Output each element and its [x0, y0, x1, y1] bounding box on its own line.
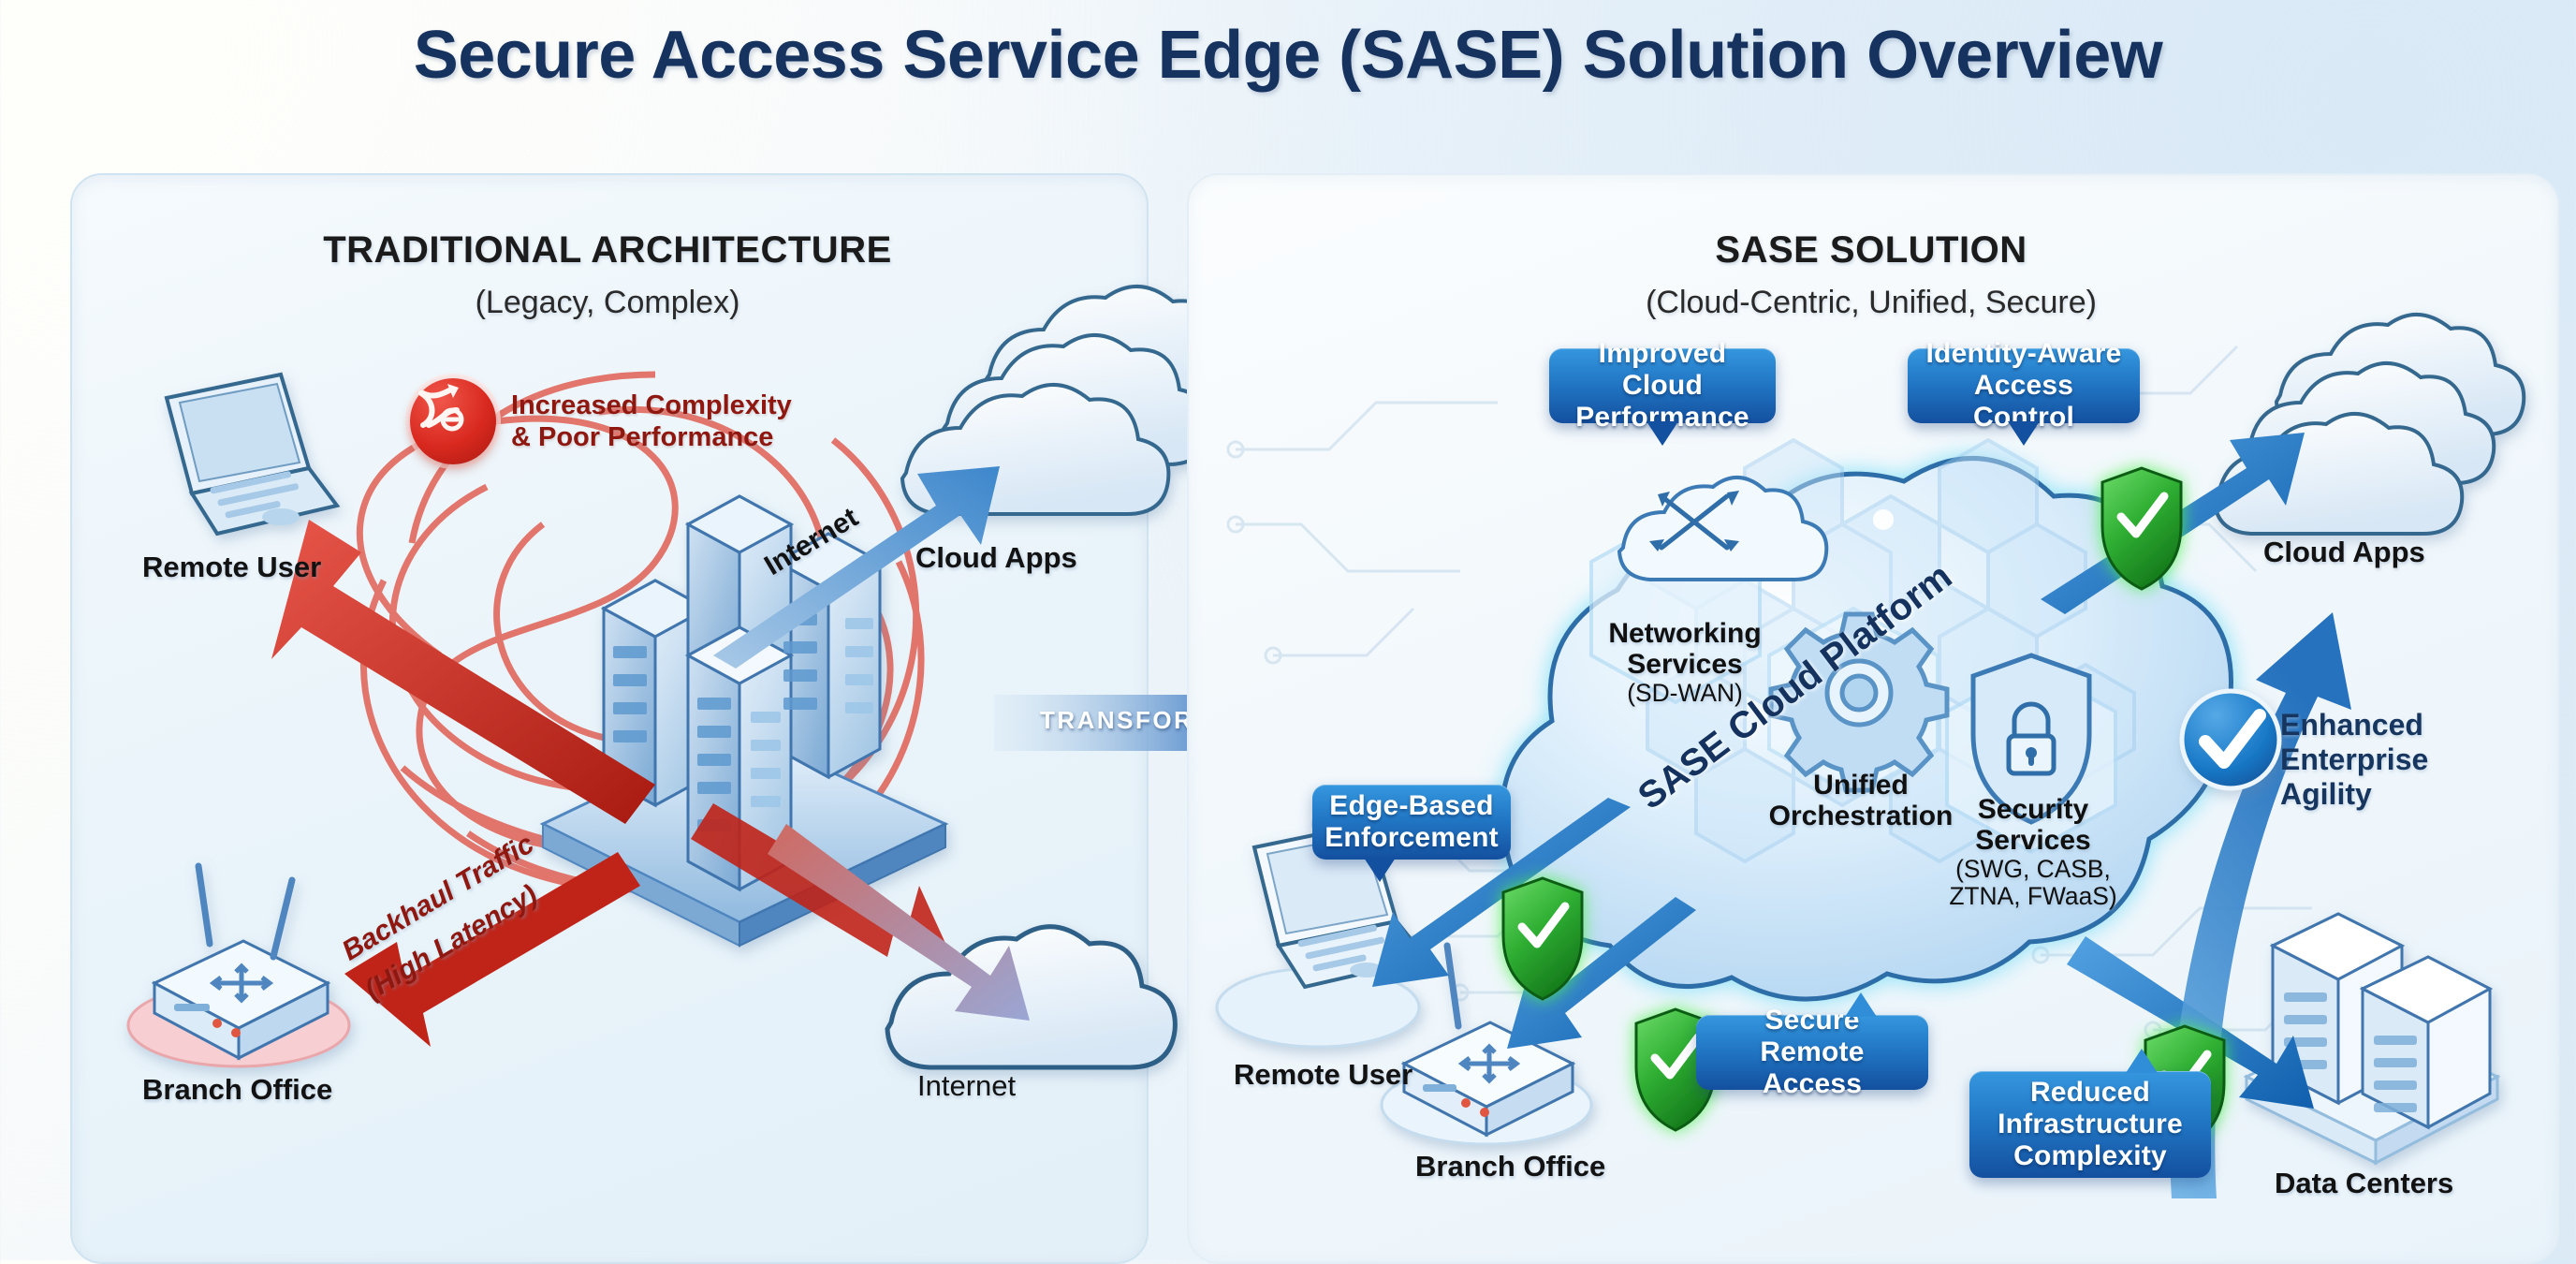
left-branch-office-label: Branch Office	[142, 1073, 332, 1107]
enhanced-enterprise-agility-label: Enhanced Enterprise Agility	[2280, 708, 2458, 812]
callout-tail-icon	[1647, 421, 1678, 446]
left-remote-user-label: Remote User	[142, 551, 321, 584]
right-panel-subtitle: (Cloud-Centric, Unified, Secure)	[1187, 285, 2555, 321]
callout-secure-remote-access[interactable]: Secure Remote Access	[1696, 1015, 1928, 1090]
callout-tail-icon	[2008, 421, 2040, 446]
right-branch-office-label: Branch Office	[1415, 1150, 1605, 1183]
left-panel-title: TRADITIONAL ARCHITECTURE	[70, 229, 1145, 272]
increased-complexity-text: Increased Complexity & Poor Performance	[511, 389, 792, 453]
callout-edge-based-enforcement[interactable]: Edge-Based Enforcement	[1312, 785, 1511, 860]
right-panel-title: SASE SOLUTION	[1187, 229, 2555, 272]
callout-identity-aware-access-control[interactable]: Identity-Aware Access Control	[1908, 348, 2140, 423]
callout-tail-icon	[1364, 858, 1396, 882]
right-cloud-apps-label: Cloud Apps	[2263, 536, 2425, 569]
callout-tail-icon	[1845, 992, 1877, 1017]
unified-orchestration-label: Unified Orchestration	[1762, 770, 1960, 831]
tangled-arrows-icon	[410, 378, 496, 464]
callout-secure-remote-access-label: Secure Remote Access	[1711, 1005, 1913, 1101]
left-internet-label: Internet	[917, 1069, 1016, 1103]
networking-services-title: Networking Services	[1608, 618, 1761, 680]
callout-improved-cloud-performance[interactable]: Improved Cloud Performance	[1549, 348, 1776, 423]
security-services-label: Security Services (SWG, CASB, ZTNA, FWaa…	[1939, 794, 2127, 910]
callout-improved-cloud-performance-label: Improved Cloud Performance	[1564, 338, 1761, 434]
left-panel-subtitle: (Legacy, Complex)	[70, 285, 1145, 321]
right-remote-user-label: Remote User	[1234, 1058, 1412, 1092]
left-cloud-apps-label: Cloud Apps	[915, 541, 1077, 575]
security-services-title: Security Services	[1975, 794, 2090, 856]
increased-complexity-badge: Increased Complexity & Poor Performance	[410, 378, 792, 464]
callout-reduced-infrastructure-complexity[interactable]: Reduced Infrastructure Complexity	[1969, 1071, 2211, 1178]
complexity-line-1: Increased Complexity	[511, 389, 792, 421]
complexity-line-2: & Poor Performance	[511, 421, 792, 453]
security-services-sub: (SWG, CASB, ZTNA, FWaaS)	[1939, 856, 2127, 910]
callout-edge-based-enforcement-label: Edge-Based Enforcement	[1325, 790, 1499, 854]
unified-orchestration-title: Unified Orchestration	[1769, 770, 1954, 831]
callout-tail-icon	[2126, 1049, 2158, 1073]
page-title: Secure Access Service Edge (SASE) Soluti…	[0, 17, 2576, 94]
data-centers-label: Data Centers	[2275, 1167, 2453, 1200]
callout-reduced-infrastructure-complexity-label: Reduced Infrastructure Complexity	[1984, 1077, 2196, 1173]
callout-identity-aware-access-control-label: Identity-Aware Access Control	[1923, 338, 2125, 434]
diagram-canvas: Secure Access Service Edge (SASE) Soluti…	[0, 0, 2576, 1260]
